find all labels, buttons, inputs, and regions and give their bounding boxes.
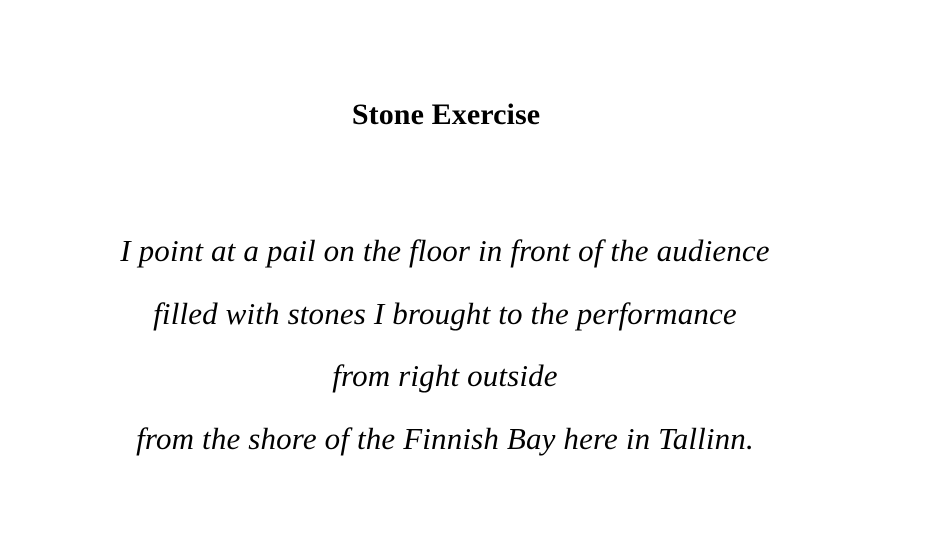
poem-line: I point at a pail on the floor in front …	[0, 220, 890, 283]
poem-line: from the shore of the Finnish Bay here i…	[0, 408, 890, 471]
page-title: Stone Exercise	[0, 95, 892, 135]
poem-line: filled with stones I brought to the perf…	[0, 283, 890, 346]
poem-body: I point at a pail on the floor in front …	[0, 220, 890, 470]
poem-line: from right outside	[0, 345, 890, 408]
document-page: Stone Exercise I point at a pail on the …	[0, 0, 926, 554]
